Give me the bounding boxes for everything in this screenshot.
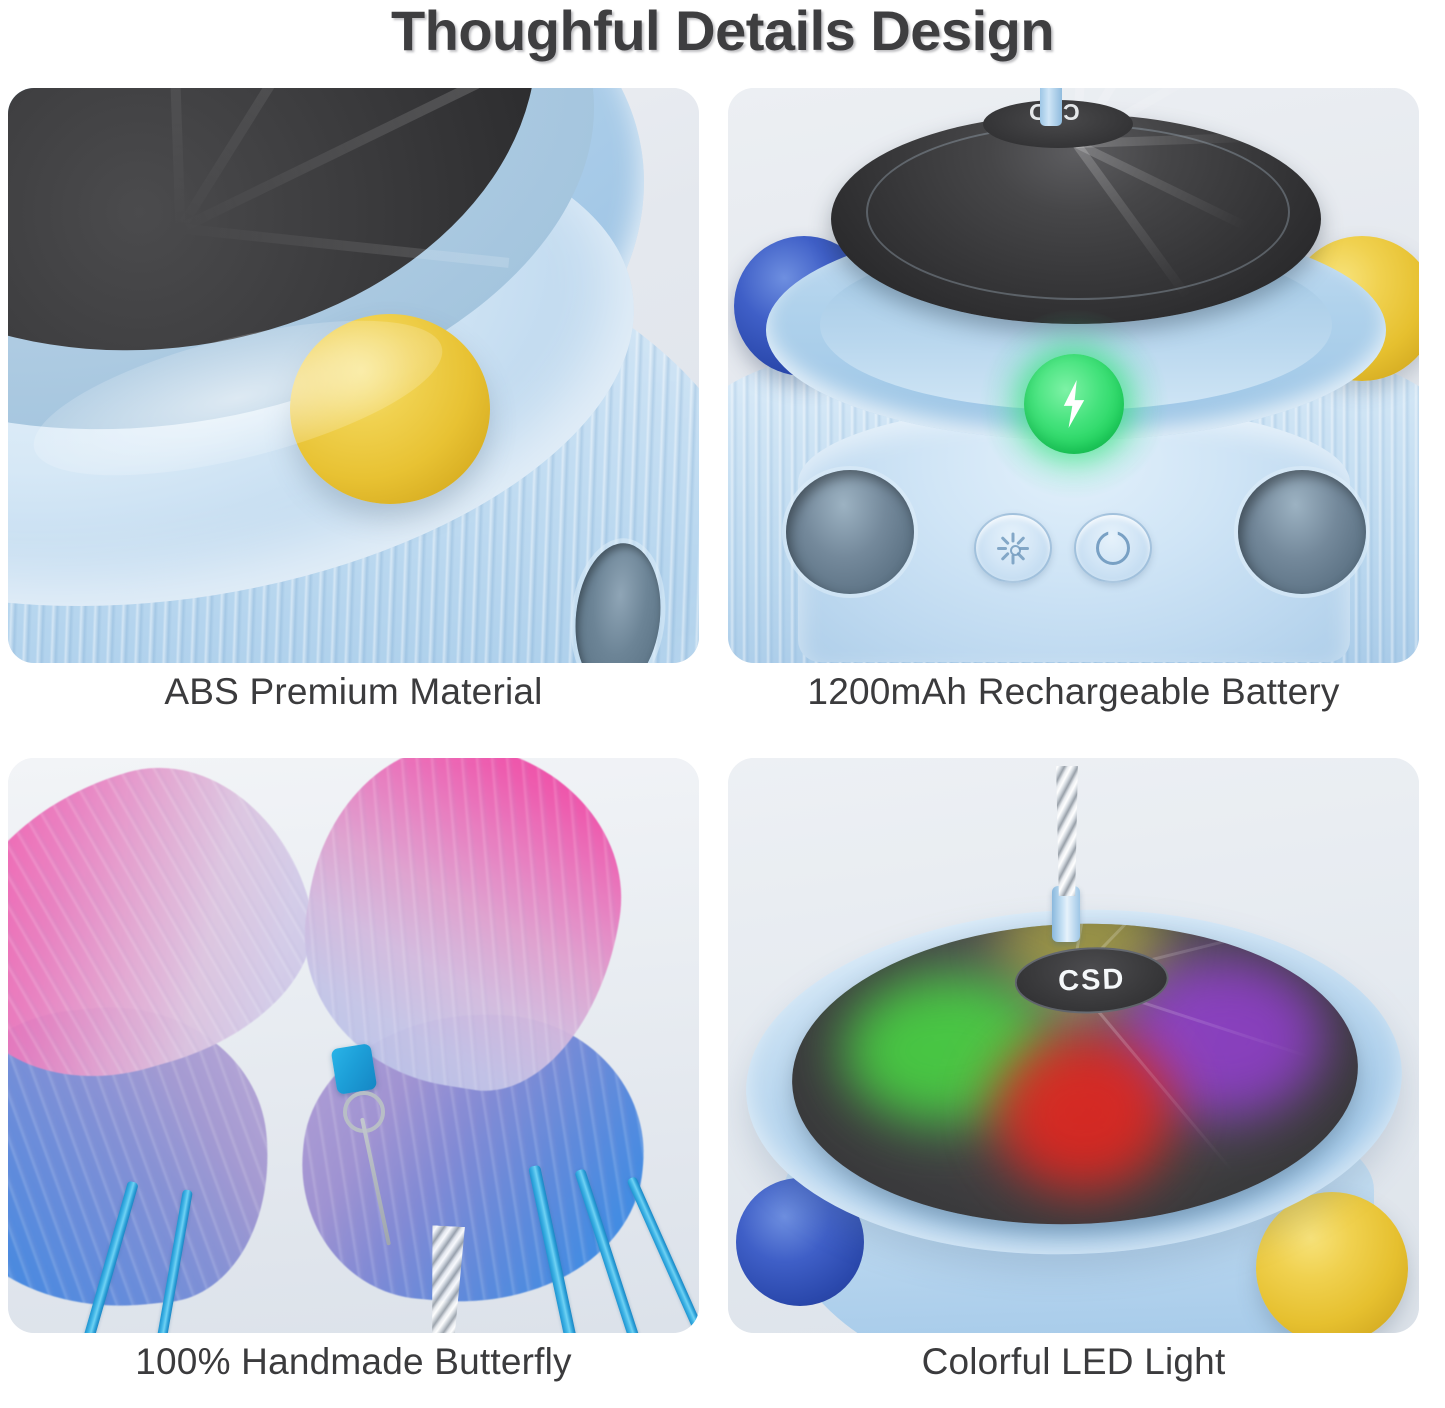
power-icon [1096, 531, 1130, 565]
power-button[interactable] [1074, 513, 1152, 583]
feature-caption-abs-material: ABS Premium Material [8, 671, 699, 713]
feature-card-led-light: CSD Colorful LED Light [728, 758, 1419, 1406]
feature-caption-led-light: Colorful LED Light [728, 1341, 1419, 1383]
lightning-bolt-icon [1057, 380, 1091, 428]
product-image-battery: CSD [728, 88, 1419, 663]
feature-caption-battery: 1200mAh Rechargeable Battery [728, 671, 1419, 713]
feature-card-butterfly: 100% Handmade Butterfly [8, 758, 699, 1406]
feature-grid: ABS Premium Material CSD [0, 88, 1445, 1408]
light-mode-button[interactable] [974, 513, 1052, 583]
page-title: Thoughful Details Design [0, 0, 1445, 72]
ball-track-hole-left [786, 470, 914, 594]
brand-logo: CSD [1058, 963, 1126, 998]
feature-card-abs-material: ABS Premium Material [8, 88, 699, 736]
feature-card-battery: CSD [728, 88, 1419, 736]
product-image-abs-material [8, 88, 699, 663]
ball-track-hole-right [1238, 470, 1366, 594]
butterfly-body-band [331, 1043, 378, 1095]
charging-indicator [1024, 354, 1124, 454]
product-image-butterfly [8, 758, 699, 1333]
wand-rod [1040, 88, 1062, 126]
brightness-icon [996, 531, 1030, 565]
product-image-led-light: CSD [728, 758, 1419, 1333]
yellow-track-ball [1256, 1192, 1408, 1333]
spinner-disc-ring [866, 124, 1290, 300]
feature-caption-butterfly: 100% Handmade Butterfly [8, 1341, 699, 1383]
